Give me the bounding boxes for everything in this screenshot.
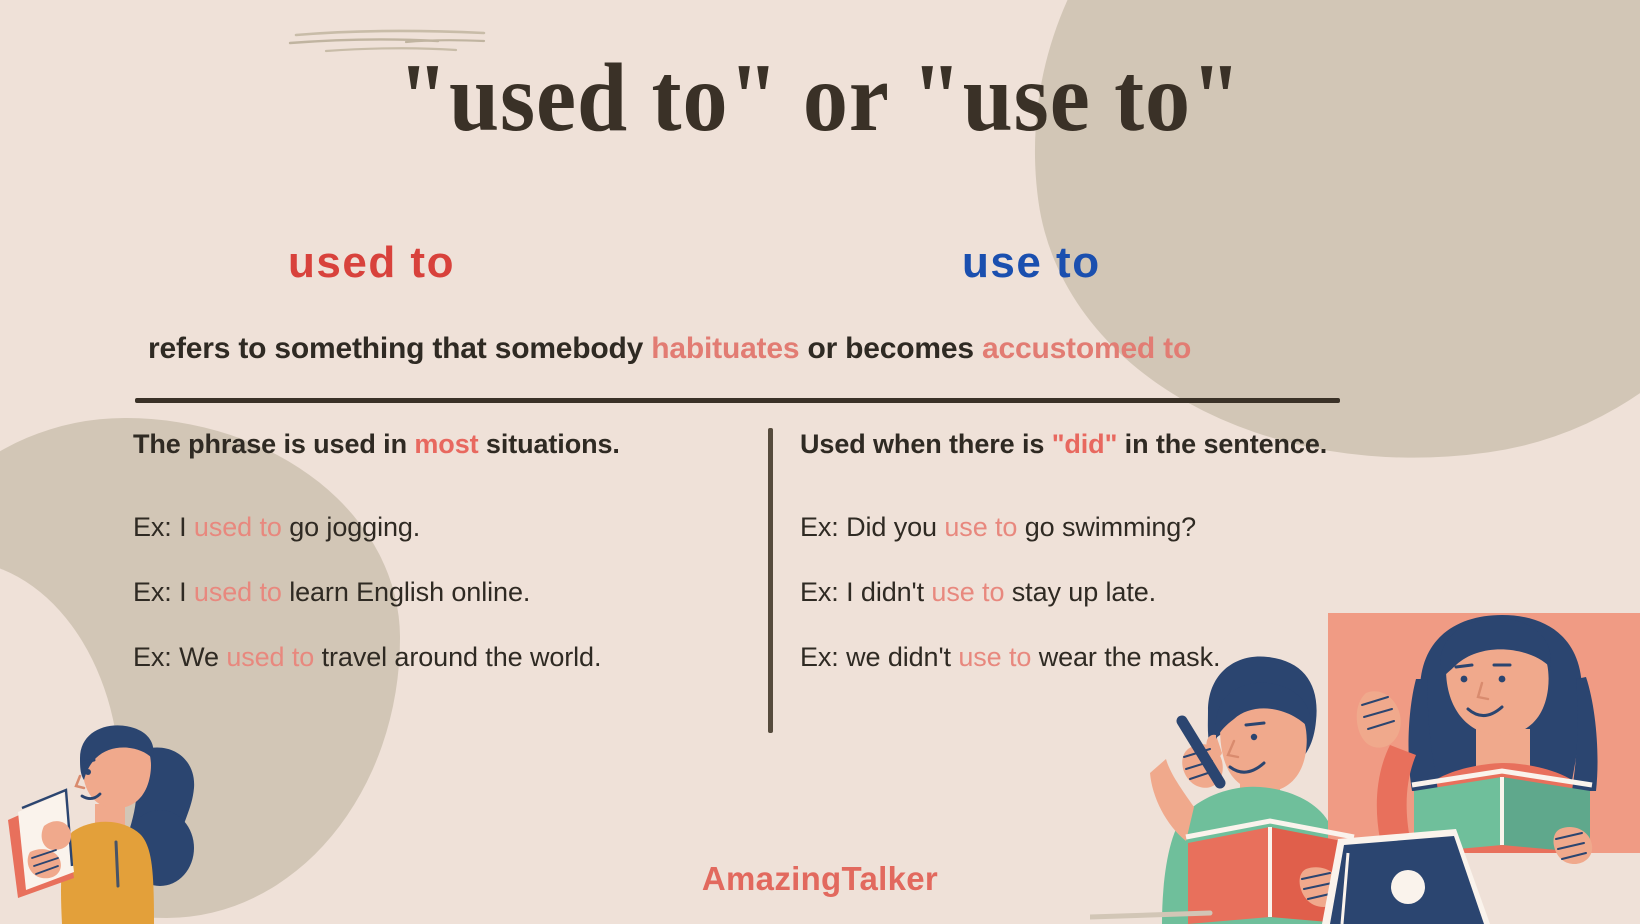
infographic-canvas: "used to" or "use to" used to use to ref… xyxy=(0,0,1640,924)
left-rule-highlight: most xyxy=(414,429,478,459)
definition-highlight-habituates: habituates xyxy=(651,332,799,365)
example-highlight: use to xyxy=(958,642,1031,672)
vertical-divider xyxy=(768,428,773,733)
left-column-rule: The phrase is used in most situations. xyxy=(133,428,753,462)
example-prefix: Ex: I xyxy=(133,577,194,607)
brand-logo-text: AmazingTalker xyxy=(0,860,1640,898)
heading-used-to: used to xyxy=(288,238,455,288)
example-prefix: Ex: I didn't xyxy=(800,577,931,607)
left-rule-suffix: situations. xyxy=(479,429,620,459)
example-item: Ex: We used to travel around the world. xyxy=(133,638,753,677)
example-prefix: Ex: we didn't xyxy=(800,642,958,672)
page-title: "used to" or "use to" xyxy=(66,42,1575,154)
example-item: Ex: I used to learn English online. xyxy=(133,573,753,612)
right-rule-highlight: "did" xyxy=(1052,429,1118,459)
definition-part1: refers to something that somebody xyxy=(148,332,651,365)
example-suffix: travel around the world. xyxy=(314,642,601,672)
left-rule-prefix: The phrase is used in xyxy=(133,429,414,459)
definition-line: refers to something that somebody habitu… xyxy=(148,332,1191,366)
right-column-rule: Used when there is "did" in the sentence… xyxy=(800,428,1380,462)
example-highlight: used to xyxy=(226,642,314,672)
example-prefix: Ex: We xyxy=(133,642,226,672)
example-highlight: used to xyxy=(194,577,282,607)
example-prefix: Ex: Did you xyxy=(800,512,944,542)
example-suffix: learn English online. xyxy=(282,577,530,607)
column-used-to: The phrase is used in most situations. E… xyxy=(133,428,753,703)
definition-part2: or becomes xyxy=(799,332,982,365)
example-item: Ex: Did you use to go swimming? xyxy=(800,508,1380,547)
example-suffix: go swimming? xyxy=(1017,512,1196,542)
example-item: Ex: I used to go jogging. xyxy=(133,508,753,547)
example-prefix: Ex: I xyxy=(133,512,194,542)
right-rule-prefix: Used when there is xyxy=(800,429,1052,459)
example-highlight: use to xyxy=(944,512,1017,542)
example-suffix: go jogging. xyxy=(282,512,420,542)
right-rule-suffix: in the sentence. xyxy=(1117,429,1327,459)
definition-highlight-accustomed: accustomed to xyxy=(982,332,1191,365)
heading-use-to: use to xyxy=(962,238,1101,288)
example-highlight: use to xyxy=(931,577,1004,607)
example-highlight: used to xyxy=(194,512,282,542)
horizontal-divider xyxy=(135,398,1340,403)
